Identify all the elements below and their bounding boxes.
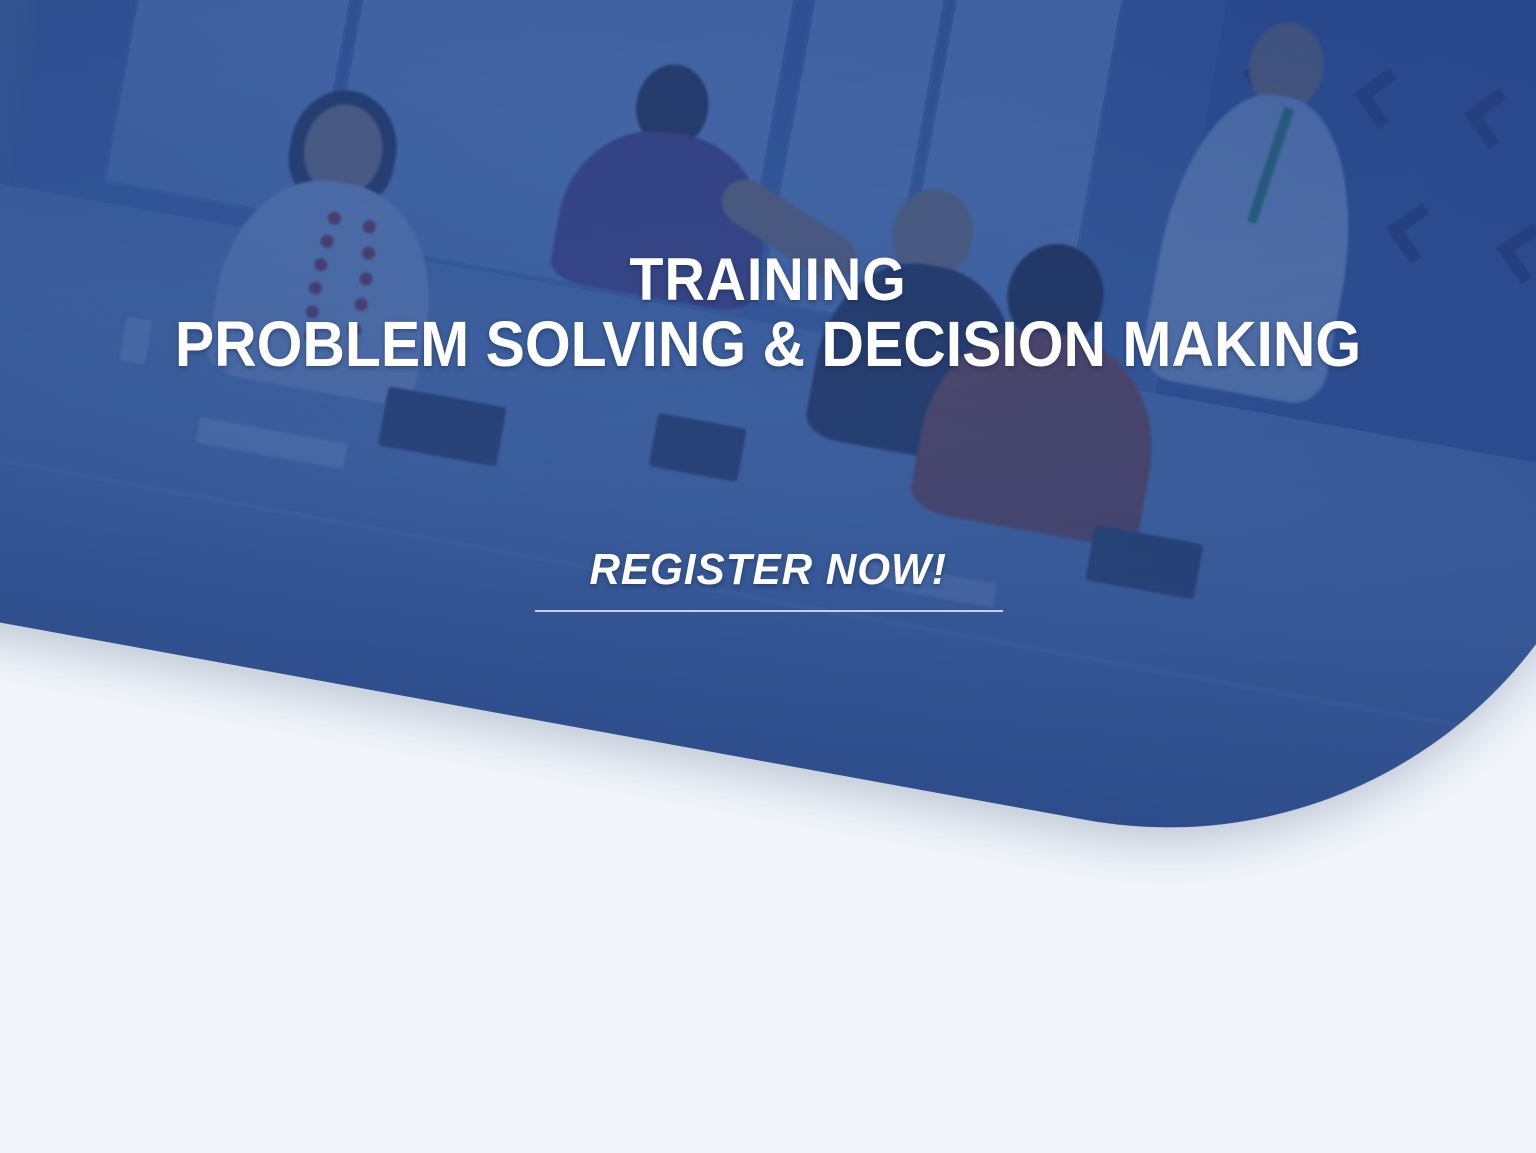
page-root: TRAINING PROBLEM SOLVING & DECISION MAKI… bbox=[0, 0, 1536, 1153]
hero-headline-line1: TRAINING bbox=[54, 250, 1482, 310]
hero-banner bbox=[0, 0, 1536, 902]
cta-container: REGISTER NOW! bbox=[0, 545, 1536, 595]
cta-underline bbox=[535, 610, 1003, 612]
hero-banner-surface bbox=[0, 0, 1536, 902]
vignette-overlay bbox=[0, 0, 1536, 902]
register-now-link[interactable]: REGISTER NOW! bbox=[589, 545, 946, 595]
hero-headline-line2: PROBLEM SOLVING & DECISION MAKING bbox=[61, 312, 1474, 376]
